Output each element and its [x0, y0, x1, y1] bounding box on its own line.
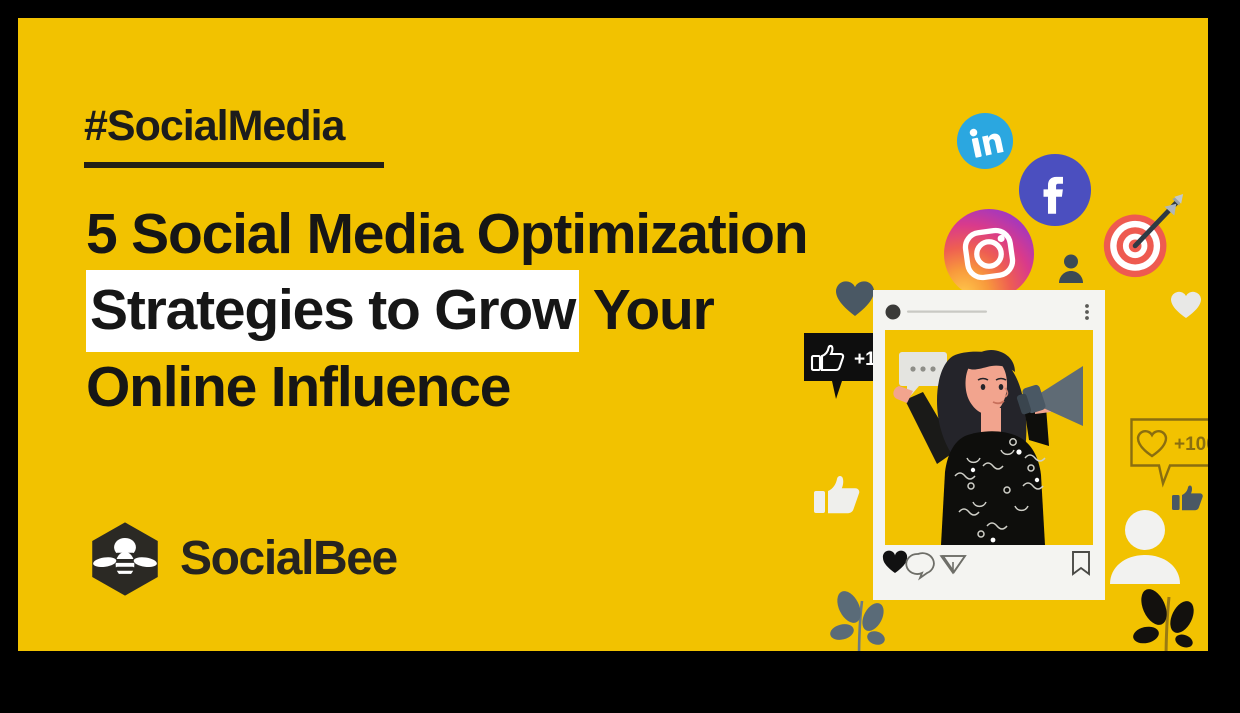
- avatar-icon: [886, 305, 901, 320]
- heart-icon-dark: [835, 280, 875, 318]
- illustration-cluster: +100 +100: [18, 18, 1208, 651]
- instagram-post-card[interactable]: [873, 290, 1105, 600]
- linkedin-icon[interactable]: [956, 112, 1014, 170]
- heart-icon-light: [1170, 290, 1202, 320]
- target-arrow-icon: [1096, 193, 1188, 285]
- person-icon-dark: [1058, 253, 1084, 283]
- banner-frame: #SocialMedia 5 Social Media Optimization…: [0, 0, 1240, 713]
- more-options-icon: [1085, 304, 1089, 320]
- thumbs-up-icon-light: [810, 468, 866, 524]
- heart-count-badge: +100: [1130, 418, 1208, 488]
- plant-icon-black: [1126, 583, 1206, 651]
- person-icon-white: [1108, 508, 1182, 584]
- instagram-icon[interactable]: [943, 208, 1035, 300]
- banner-canvas: #SocialMedia 5 Social Media Optimization…: [18, 18, 1208, 651]
- heart-badge-label: +100: [1174, 434, 1208, 455]
